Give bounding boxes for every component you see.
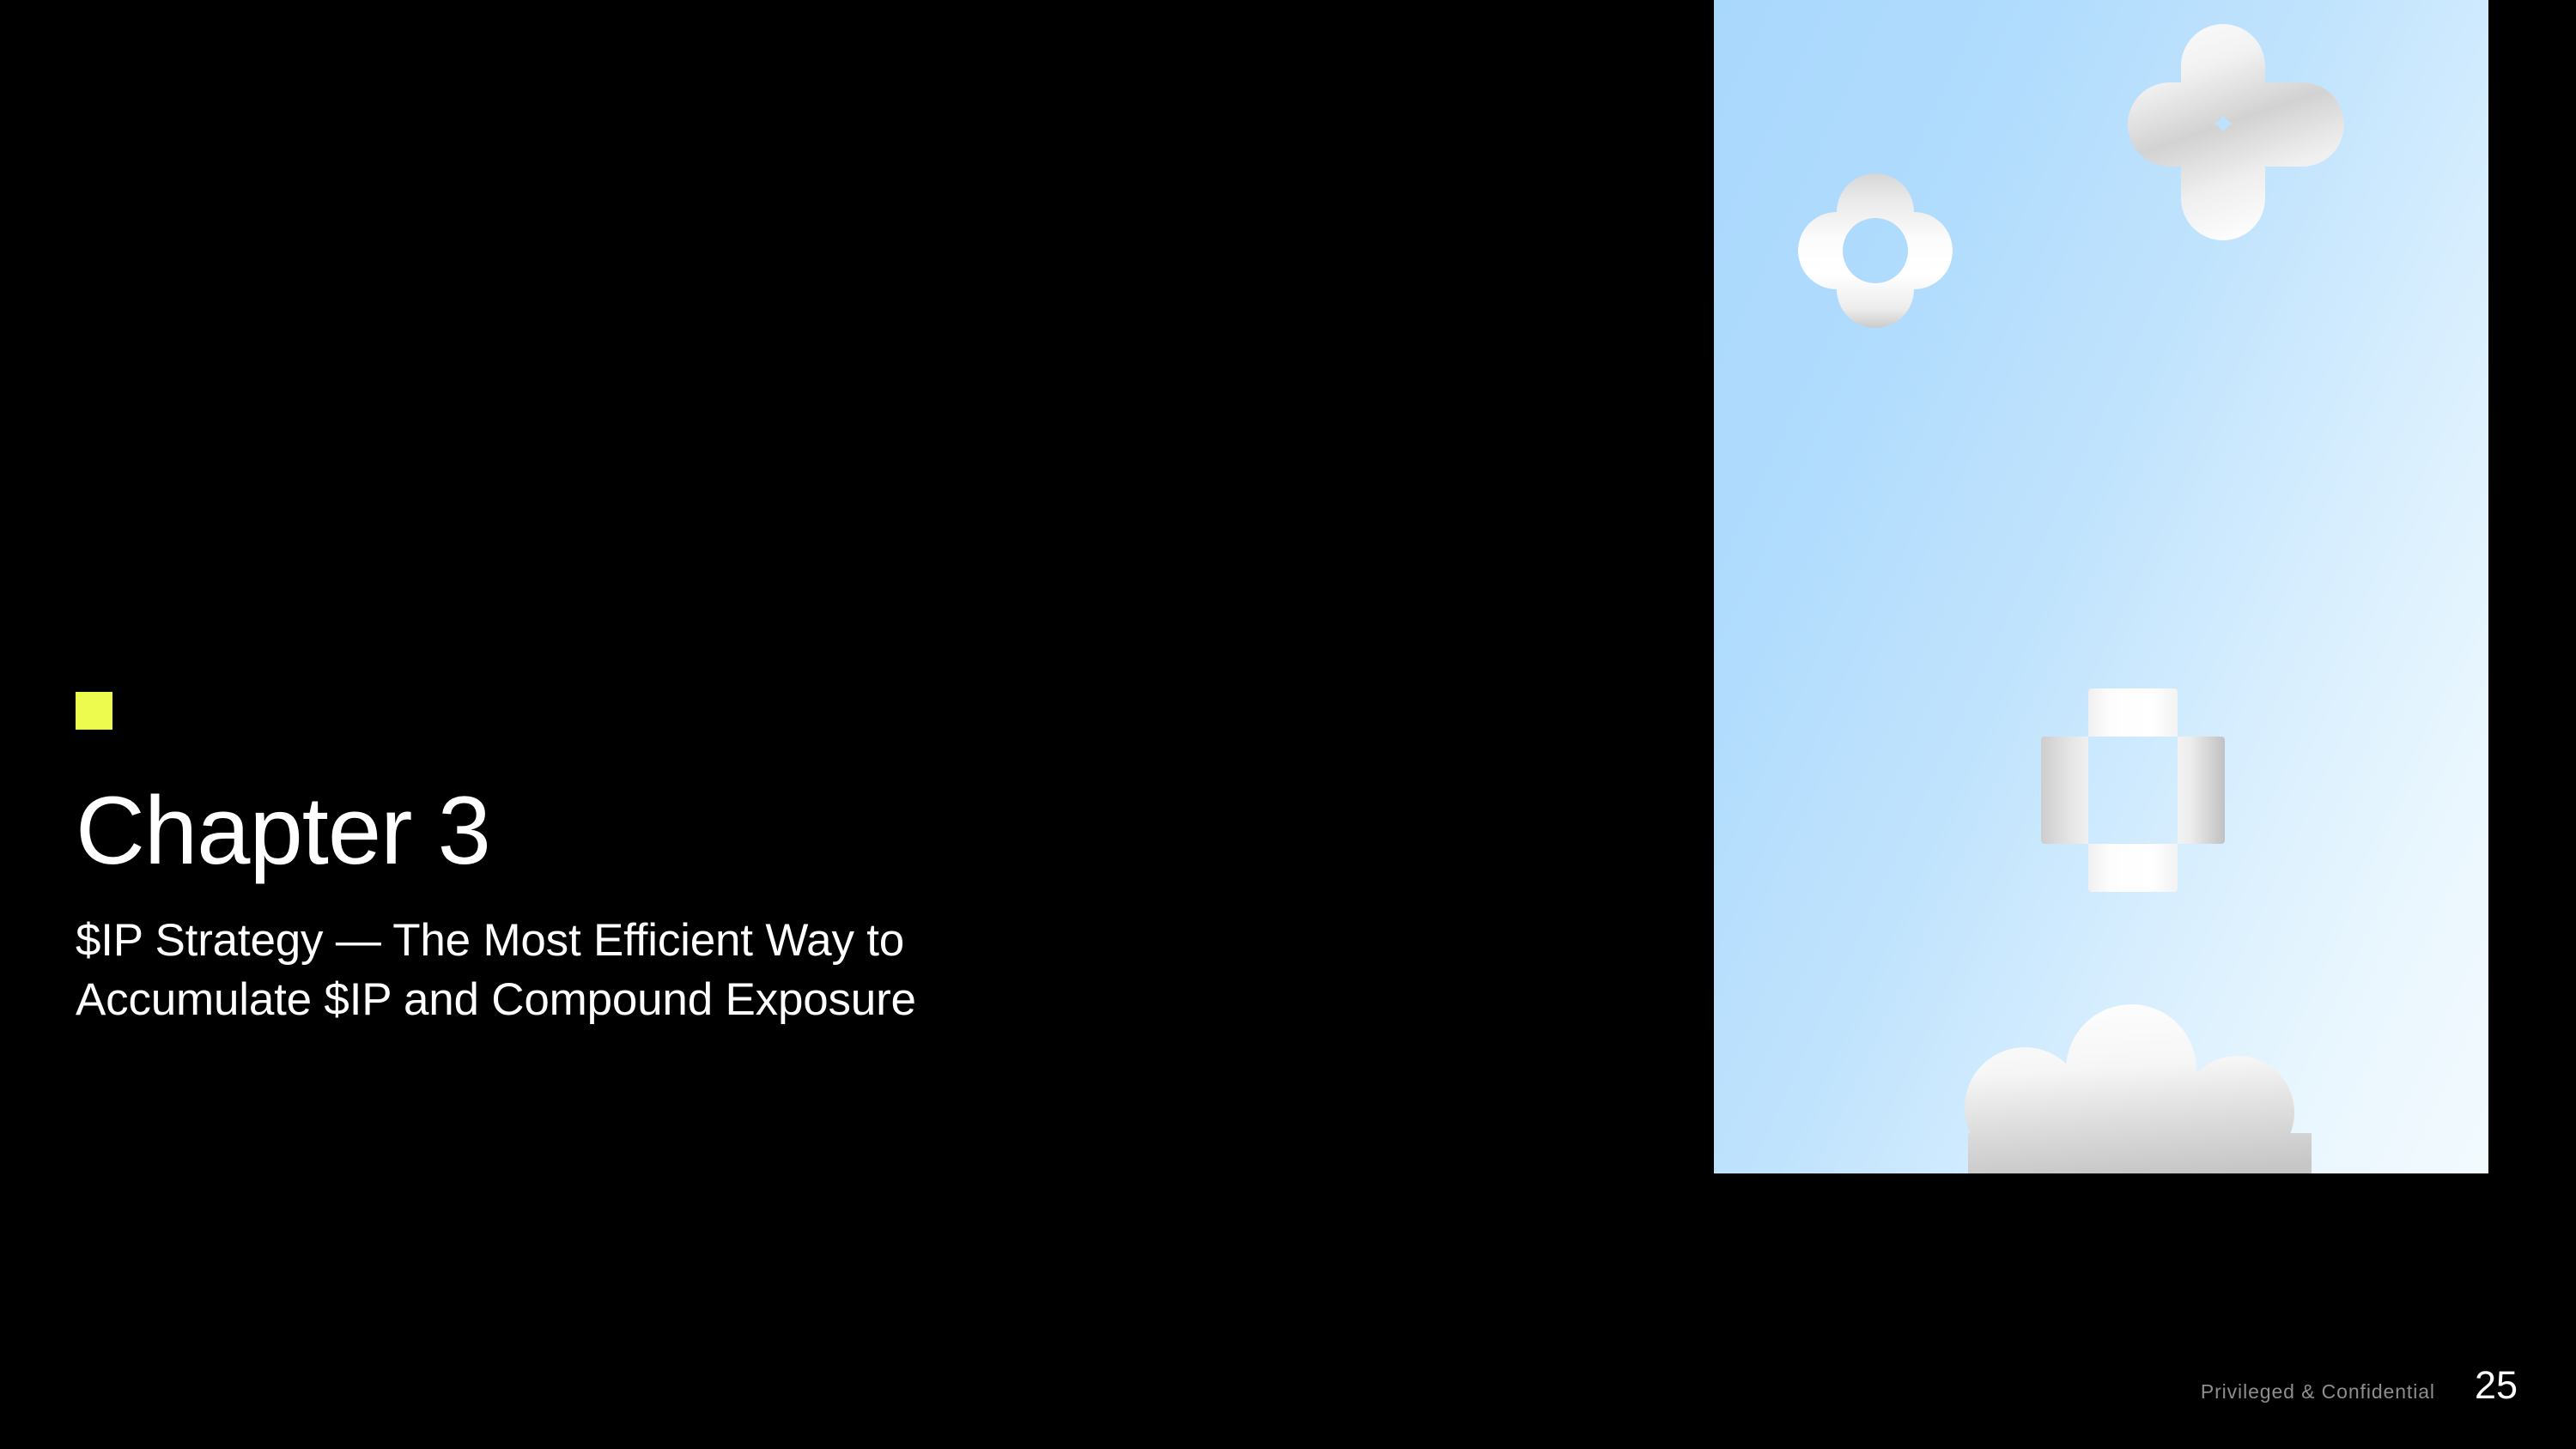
confidentiality-notice: Privileged & Confidential	[2201, 1380, 2435, 1404]
slide-root: Chapter 3 $IP Strategy — The Most Effici…	[0, 0, 2576, 1449]
page-title: Chapter 3	[76, 783, 1415, 879]
decorative-shapes-svg	[1714, 0, 2488, 1173]
chapter-text-block: Chapter 3 $IP Strategy — The Most Effici…	[76, 692, 1415, 1030]
shape-quatrefoil-ring	[1791, 163, 1963, 335]
shape-cloud	[1954, 996, 2324, 1173]
chapter-subtitle: $IP Strategy — The Most Efficient Way to…	[76, 912, 1364, 1030]
page-number: 25	[2475, 1363, 2518, 1408]
slide-footer: Privileged & Confidential 25	[2201, 1363, 2518, 1408]
decorative-image-panel	[1714, 0, 2488, 1173]
subtitle-line-1: $IP Strategy — The Most Efficient Way to	[76, 912, 1364, 971]
accent-square-marker	[76, 692, 112, 730]
shape-quatrefoil-capsule-cluster	[2117, 15, 2358, 252]
subtitle-line-2: Accumulate $IP and Compound Exposure	[76, 971, 1364, 1030]
shape-cross-with-square-hole	[2036, 682, 2233, 899]
